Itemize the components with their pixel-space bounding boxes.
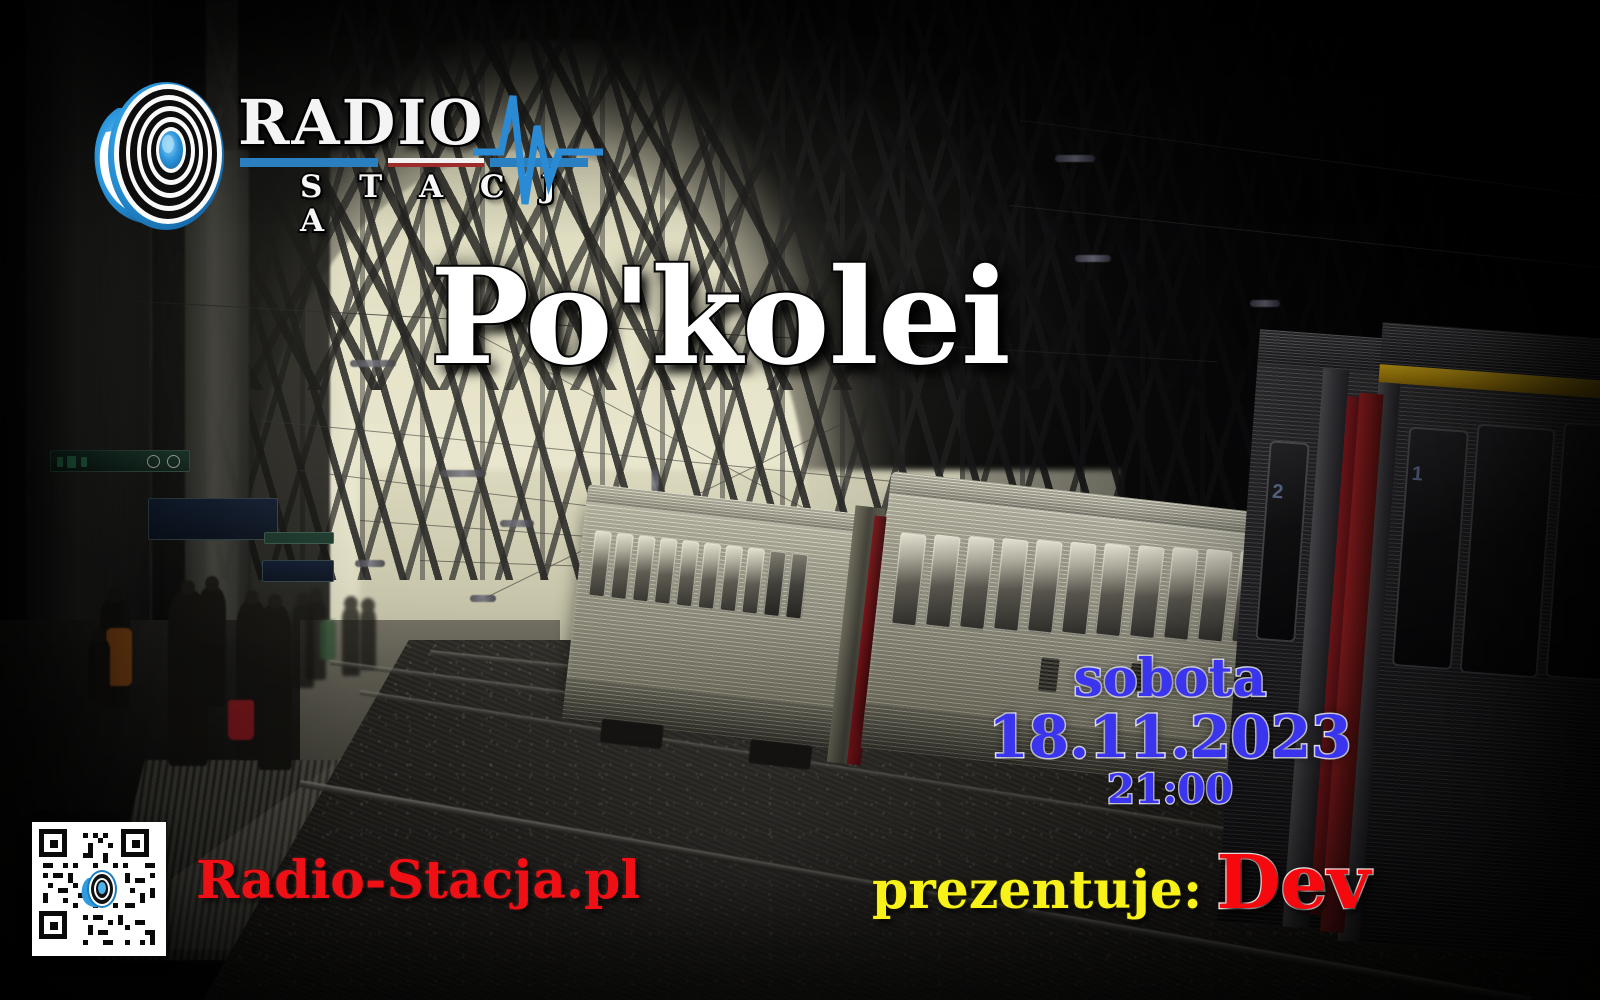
platform-exit-sign <box>50 450 190 472</box>
catenary-insulator <box>440 470 486 477</box>
catenary-insulator <box>1075 255 1111 262</box>
pulse-waveform-icon <box>473 86 603 216</box>
carriage-class-marker: 2 <box>1271 481 1284 505</box>
person <box>88 638 110 700</box>
website-url[interactable]: Radio-Stacja.pl <box>196 853 640 909</box>
host-name: Dev <box>1216 840 1370 926</box>
person-coat <box>320 620 336 660</box>
catenary-insulator <box>355 560 385 567</box>
catenary-insulator <box>470 595 496 602</box>
event-date: 18.11.2023 <box>935 706 1405 768</box>
speaker-cone-icon <box>88 74 230 234</box>
presenter-credit: prezentuje:Dev <box>872 855 1370 919</box>
presents-label: prezentuje: <box>872 860 1202 921</box>
event-schedule: sobota 18.11.2023 21:00 <box>935 652 1405 812</box>
poster-canvas: 2 2 1 <box>0 0 1600 1000</box>
person <box>360 608 376 670</box>
catenary-insulator <box>350 360 396 367</box>
radio-stacja-logo[interactable]: RADIO S T A C J A <box>88 72 608 232</box>
shopping-bag <box>228 700 254 740</box>
platform-exit-sign-far <box>264 532 334 544</box>
train-dark-carriage: 2 1 <box>1229 330 1600 919</box>
carriage-class-marker: 1 <box>1411 463 1424 487</box>
catenary-insulator <box>1055 155 1095 162</box>
page-title: Po'kolei <box>430 252 1010 384</box>
event-weekday: sobota <box>935 652 1405 706</box>
person <box>198 586 226 706</box>
person <box>258 604 292 770</box>
qr-code[interactable] <box>32 822 166 956</box>
catenary-insulator <box>500 520 534 527</box>
catenary-insulator <box>1250 300 1280 307</box>
brand-radio-text: RADIO <box>238 92 484 154</box>
platform-info-sign <box>262 560 334 582</box>
platform-departure-board <box>148 498 278 540</box>
event-time: 21:00 <box>935 768 1405 812</box>
speaker-cone-icon <box>79 869 119 909</box>
